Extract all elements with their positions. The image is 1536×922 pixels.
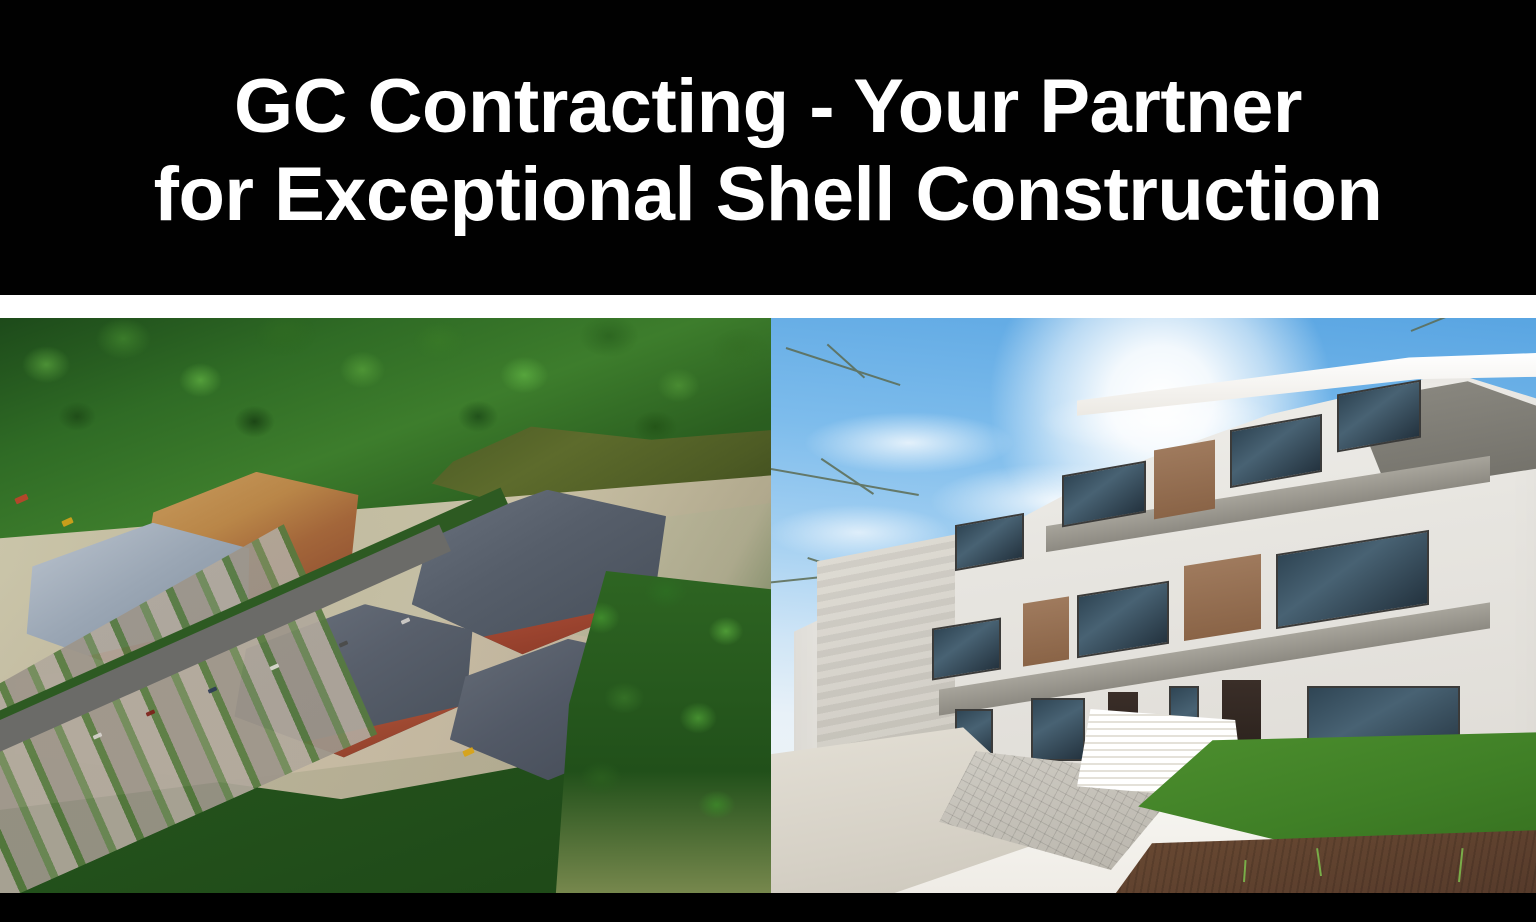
window <box>1031 698 1085 761</box>
wood-accent-panel <box>1184 553 1261 640</box>
window <box>932 617 1001 680</box>
page-title-line-2: for Exceptional Shell Construction <box>154 151 1383 239</box>
footer-strip <box>0 893 1536 922</box>
image-gallery <box>0 318 1536 893</box>
header-banner: GC Contracting - Your Partner for Except… <box>0 0 1536 295</box>
page-title-line-1: GC Contracting - Your Partner <box>234 63 1302 151</box>
separator-band <box>0 295 1536 318</box>
tree-branch <box>1410 318 1513 331</box>
modern-townhomes-image <box>771 318 1536 893</box>
wood-accent-panel <box>1023 596 1069 667</box>
promo-banner-page: GC Contracting - Your Partner for Except… <box>0 0 1536 922</box>
aerial-scene <box>0 318 771 893</box>
wood-accent-panel <box>1154 439 1215 519</box>
townhome-scene <box>771 318 1536 893</box>
aerial-construction-site-image <box>0 318 771 893</box>
